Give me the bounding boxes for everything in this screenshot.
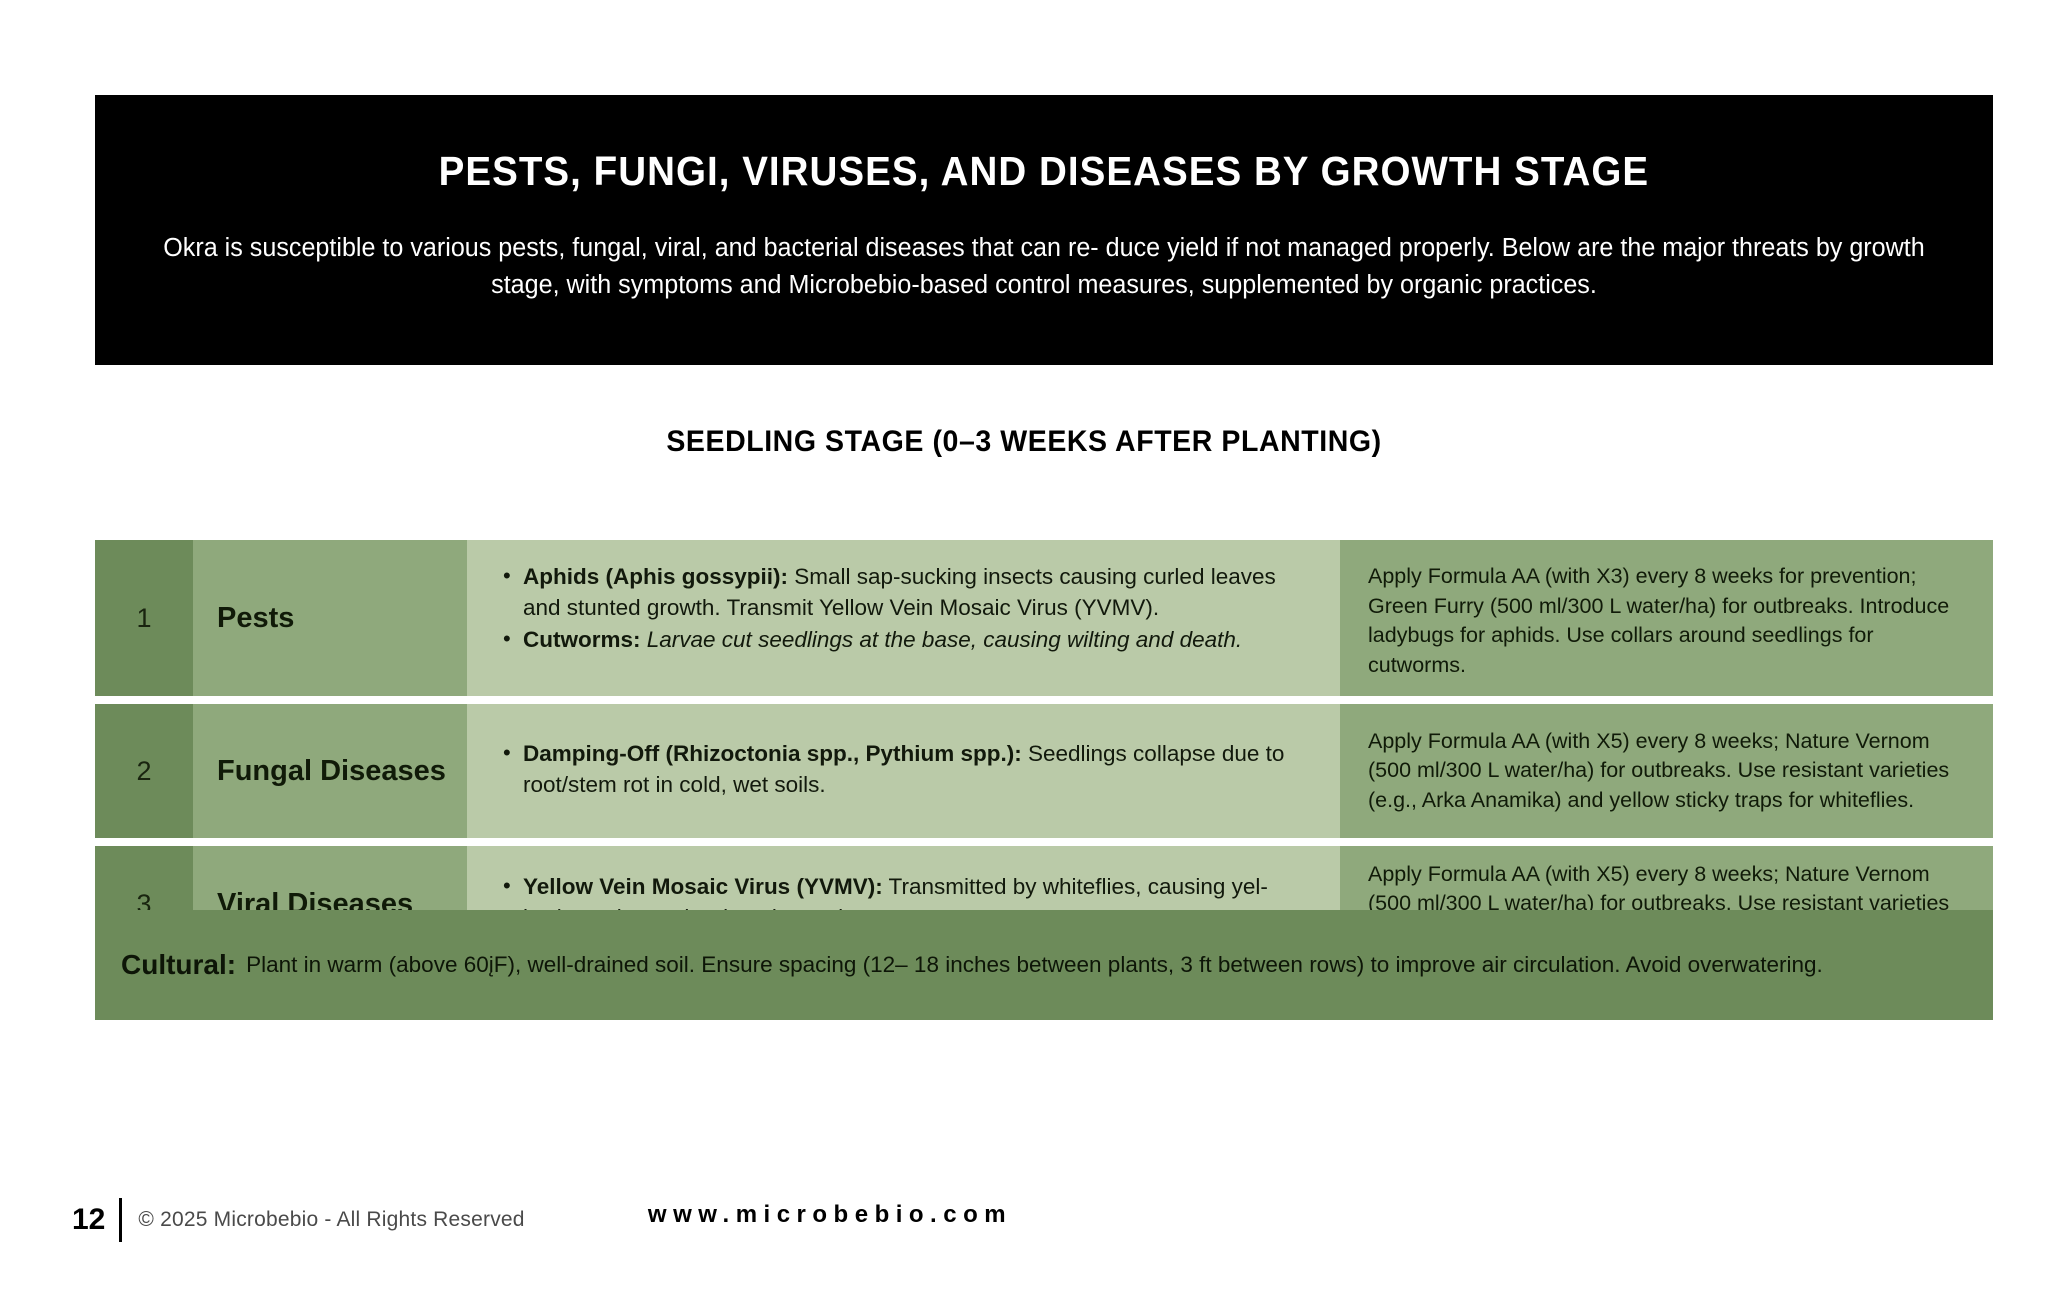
table-row: 2 Fungal Diseases Damping-Off (Rhizocton… xyxy=(95,704,1993,838)
section-heading: SEEDLING STAGE (0–3 WEEKS AFTER PLANTING… xyxy=(51,425,1997,459)
row-category: Fungal Diseases xyxy=(193,704,467,838)
row-description: Damping-Off (Rhizoctonia spp., Pythium s… xyxy=(467,704,1340,838)
description-bullet-list: Damping-Off (Rhizoctonia spp., Pythium s… xyxy=(501,739,1312,802)
list-item: Aphids (Aphis gossypii): Small sap-sucki… xyxy=(501,562,1312,623)
cultural-label: Cultural: xyxy=(121,949,236,981)
list-item: Cutworms: Larvae cut seedlings at the ba… xyxy=(501,625,1312,656)
website-url: www.microbebio.com xyxy=(0,1201,1660,1229)
table-row: 1 Pests Aphids (Aphis gossypii): Small s… xyxy=(95,540,1993,696)
row-number: 1 xyxy=(95,540,193,696)
page-footer: 12 © 2025 Microbebio - All Rights Reserv… xyxy=(0,1195,2048,1255)
bullet-term: Yellow Vein Mosaic Virus (YVMV): xyxy=(523,874,883,899)
list-item: Damping-Off (Rhizoctonia spp., Pythium s… xyxy=(501,739,1312,800)
page-title: PESTS, FUNGI, VIRUSES, AND DISEASES BY G… xyxy=(439,149,1650,194)
row-description: Aphids (Aphis gossypii): Small sap-sucki… xyxy=(467,540,1340,696)
header-banner: PESTS, FUNGI, VIRUSES, AND DISEASES BY G… xyxy=(95,95,1993,365)
row-number: 2 xyxy=(95,704,193,838)
bullet-term: Cutworms: xyxy=(523,627,641,652)
bullet-text-italic: Larvae cut seedlings at the base, causin… xyxy=(641,627,1243,652)
cultural-practices-bar: Cultural: Plant in warm (above 60įF), we… xyxy=(95,910,1993,1020)
pest-disease-table: 1 Pests Aphids (Aphis gossypii): Small s… xyxy=(95,540,1993,970)
description-bullet-list: Aphids (Aphis gossypii): Small sap-sucki… xyxy=(501,562,1312,656)
row-category: Pests xyxy=(193,540,467,696)
header-intro-paragraph: Okra is susceptible to various pests, fu… xyxy=(158,230,1931,302)
bullet-term: Aphids (Aphis gossypii): xyxy=(523,564,788,589)
row-control-measures: Apply Formula AA (with X5) every 8 weeks… xyxy=(1340,704,1993,838)
cultural-text: Plant in warm (above 60įF), well-drained… xyxy=(246,950,1823,979)
bullet-term: Damping-Off (Rhizoctonia spp., Pythium s… xyxy=(523,741,1022,766)
document-page: PESTS, FUNGI, VIRUSES, AND DISEASES BY G… xyxy=(0,0,2048,1303)
row-control-measures: Apply Formula AA (with X3) every 8 weeks… xyxy=(1340,540,1993,696)
